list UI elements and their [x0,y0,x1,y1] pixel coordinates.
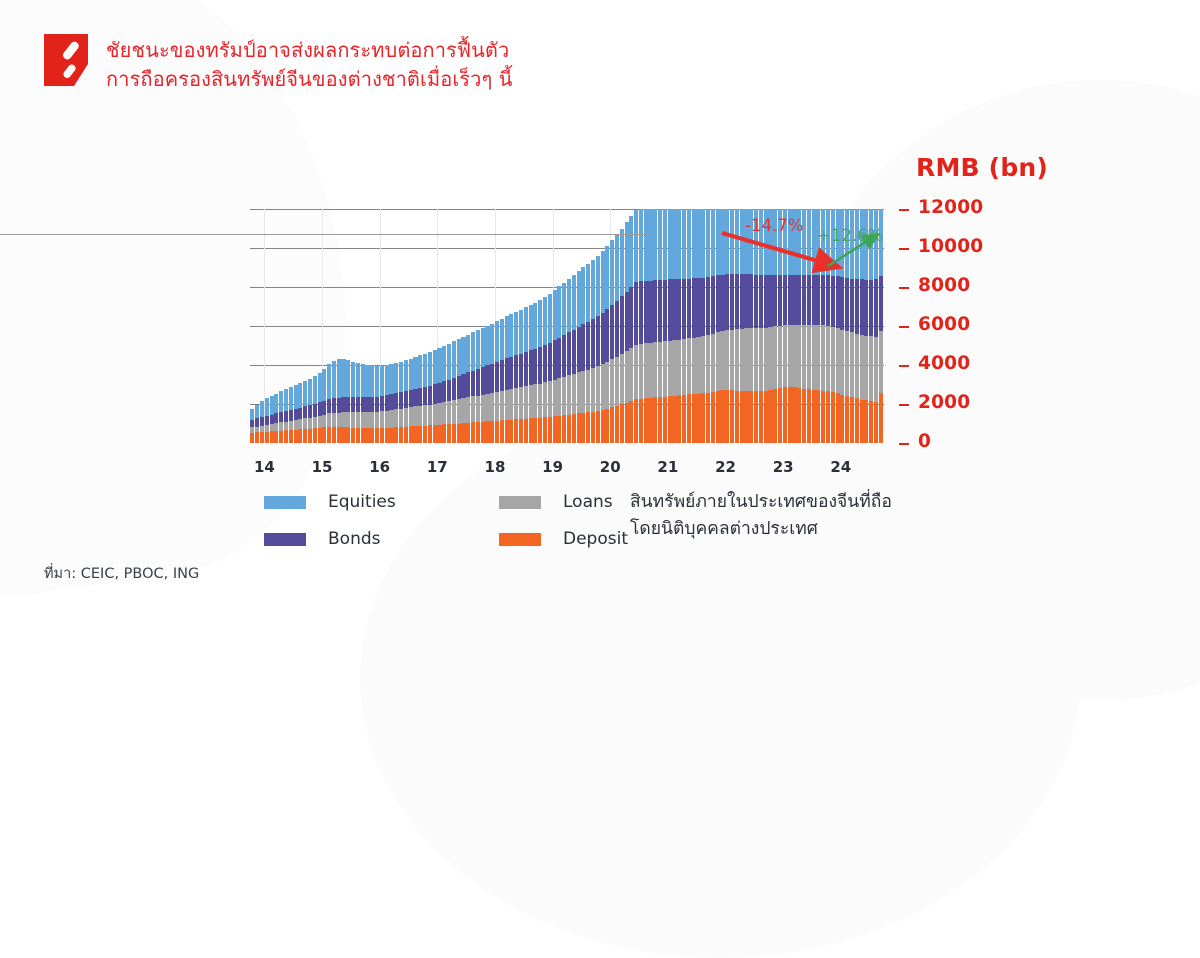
bar-segment-deposit [874,402,878,443]
bar-segment-deposit [610,407,614,443]
bar-segment-bonds [620,296,624,354]
bar-column [783,209,787,443]
y-axis-label: 10000 [918,236,983,257]
bar-column [562,209,566,443]
bar-column [490,209,494,443]
bar-segment-bonds [514,355,518,388]
bar-segment-deposit [466,423,470,443]
bar-segment-bonds [361,397,365,412]
bar-segment-loans [356,412,360,427]
bar-segment-loans [298,419,302,429]
bar-segment-deposit [864,400,868,443]
bar-segment-bonds [505,358,509,389]
bar-segment-loans [375,412,379,428]
bar-segment-deposit [399,427,403,443]
x-axis-label: 21 [657,458,678,476]
bar-segment-loans [274,423,278,431]
bar-segment-deposit [653,397,657,443]
bar-segment-loans [663,341,667,396]
bar-column [754,209,758,443]
bar-segment-bonds [308,405,312,417]
bar-segment-loans [682,339,686,395]
bar-column [677,209,681,443]
bar-column [764,209,768,443]
bar-segment-loans [524,386,528,418]
y-axis-label: 6000 [918,314,970,335]
bar-segment-deposit [413,426,417,443]
bar-segment-equities [466,335,470,373]
bar-segment-loans [452,400,456,424]
bar-column [548,209,552,443]
bar-segment-bonds [744,274,748,328]
bar-segment-equities [270,396,274,415]
legend-deposit[interactable]: Deposit [499,529,628,549]
bar-series-container [250,209,884,443]
bar-segment-bonds [850,279,854,333]
bar-column [279,209,283,443]
bar-segment-loans [346,412,350,427]
bar-segment-equities [725,209,729,274]
bar-segment-equities [533,303,537,349]
bar-segment-deposit [797,388,801,443]
bar-column [485,209,489,443]
bar-segment-loans [773,326,777,389]
bar-segment-deposit [250,433,254,443]
bar-column [284,209,288,443]
bar-segment-bonds [687,279,691,339]
bar-segment-bonds [298,408,302,420]
bar-segment-equities [457,339,461,376]
bar-segment-deposit [860,400,864,443]
bar-segment-bonds [413,389,417,406]
bar-segment-bonds [485,365,489,393]
bar-segment-loans [711,334,715,392]
bar-column [341,209,345,443]
bar-segment-deposit [361,428,365,443]
bar-segment-deposit [596,411,600,443]
bar-segment-loans [653,342,657,397]
bar-segment-loans [351,412,355,427]
bar-segment-deposit [668,396,672,443]
bar-segment-deposit [716,391,720,443]
bar-segment-equities [577,271,581,327]
bar-segment-deposit [524,419,528,443]
bar-segment-loans [461,398,465,423]
bar-segment-equities [740,209,744,274]
bar-segment-deposit [533,418,537,443]
bar-segment-bonds [471,371,475,397]
bar-segment-bonds [322,401,326,415]
bar-column [605,209,609,443]
bar-segment-loans [284,422,288,431]
bar-segment-loans [418,406,422,426]
bar-segment-deposit [514,419,518,443]
bar-segment-bonds [303,406,307,418]
bar-segment-deposit [807,389,811,443]
bar-column [437,209,441,443]
bar-segment-bonds [740,274,744,329]
bar-segment-equities [634,210,638,282]
bar-segment-loans [874,337,878,402]
bar-column [543,209,547,443]
bar-segment-equities [663,209,667,280]
bar-segment-deposit [826,391,830,443]
bar-segment-equities [581,267,585,324]
bar-column [581,209,585,443]
bar-segment-equities [615,235,619,301]
bar-segment-bonds [644,281,648,343]
bar-segment-loans [457,399,461,423]
bar-segment-deposit [788,387,792,443]
bar-segment-loans [567,375,571,414]
bar-segment-equities [529,305,533,350]
bar-segment-deposit [778,388,782,443]
bar-segment-equities [553,290,557,340]
bar-segment-equities [648,209,652,281]
y-axis-label: 4000 [918,353,970,374]
bar-segment-equities [720,209,724,275]
bar-segment-loans [778,326,782,389]
x-axis-label: 19 [542,458,563,476]
bar-segment-deposit [591,412,595,443]
bar-segment-bonds [682,279,686,339]
bar-segment-bonds [548,343,552,382]
bar-segment-loans [332,413,336,427]
bar-segment-equities [672,209,676,279]
bar-segment-equities [692,209,696,278]
bar-column [653,209,657,443]
bar-segment-equities [495,321,499,362]
bar-segment-deposit [428,425,432,443]
bar-segment-equities [385,365,389,395]
bar-segment-bonds [351,397,355,412]
bar-segment-bonds [294,409,298,420]
bar-segment-deposit [701,393,705,443]
bar-segment-equities [481,328,485,367]
bar-segment-loans [322,415,326,428]
bar-segment-deposit [720,390,724,443]
bar-segment-bonds [399,392,403,408]
bar-segment-bonds [677,279,681,340]
plot-area [250,209,884,443]
bar-column [476,209,480,443]
bar-column [735,209,739,443]
bar-segment-loans [591,368,595,412]
bar-column [409,209,413,443]
y-axis-tick [899,365,909,367]
bar-segment-loans [845,331,849,396]
bar-segment-bonds [380,396,384,411]
bar-segment-equities [476,330,480,369]
bar-segment-bonds [260,417,264,426]
bar-segment-bonds [816,275,820,325]
bar-segment-loans [720,331,724,390]
bar-segment-equities [706,209,710,277]
bar-segment-deposit [332,427,336,443]
bar-segment-bonds [615,301,619,357]
bar-segment-deposit [696,394,700,443]
bar-segment-loans [577,372,581,413]
bar-segment-equities [524,307,528,352]
bar-segment-loans [860,335,864,400]
bar-segment-equities [505,316,509,358]
bar-segment-equities [337,359,341,397]
bar-segment-loans [308,418,312,429]
bar-segment-bonds [879,276,883,331]
bar-segment-loans [265,425,269,432]
bar-column [452,209,456,443]
bar-segment-loans [337,413,341,427]
bar-segment-deposit [749,391,753,443]
bar-segment-deposit [869,401,873,443]
bar-segment-equities [701,209,705,278]
bar-segment-loans [294,420,298,430]
bar-segment-loans [385,411,389,428]
bar-segment-equities [812,209,816,275]
bar-segment-bonds [773,275,777,326]
bar-column [346,209,350,443]
bar-segment-equities [500,319,504,360]
bar-segment-deposit [375,428,379,443]
bar-segment-deposit [303,429,307,443]
bar-segment-bonds [581,324,585,371]
bar-segment-loans [433,404,437,425]
bar-segment-loans [270,424,274,431]
bar-segment-equities [370,365,374,397]
bar-segment-deposit [625,403,629,443]
bar-segment-loans [399,409,403,427]
bar-segment-bonds [701,278,705,337]
bar-segment-bonds [639,281,643,343]
bar-segment-equities [274,394,278,414]
bar-segment-deposit [298,429,302,443]
x-axis-line [0,234,648,235]
bar-segment-bonds [783,275,787,325]
bar-column [701,209,705,443]
bar-column [509,209,513,443]
bar-segment-deposit [485,421,489,443]
bar-segment-loans [327,413,331,426]
bar-segment-equities [538,300,542,347]
bar-segment-bonds [720,275,724,331]
legend-bonds[interactable]: Bonds [264,529,396,549]
bar-segment-loans [318,416,322,428]
bar-segment-deposit [605,409,609,443]
bar-segment-bonds [279,412,283,422]
bar-segment-bonds [389,394,393,410]
bar-segment-bonds [394,393,398,409]
bar-segment-equities [605,246,609,309]
bar-segment-equities [409,359,413,391]
bar-segment-bonds [318,402,322,415]
bar-segment-deposit [471,422,475,443]
bar-segment-deposit [476,422,480,443]
bar-segment-deposit [457,424,461,444]
bar-segment-bonds [845,278,849,331]
bar-column [773,209,777,443]
bar-segment-loans [625,351,629,403]
legend-loans[interactable]: Loans [499,492,628,512]
bar-segment-loans [826,326,830,391]
bar-segment-deposit [433,425,437,443]
bar-column [778,209,782,443]
bar-segment-deposit [313,428,317,443]
bar-segment-loans [744,328,748,391]
bar-segment-deposit [639,399,643,443]
source-citation: ที่มา: CEIC, PBOC, ING [44,562,199,585]
bar-segment-loans [879,331,883,393]
bar-segment-loans [442,402,446,424]
bar-column [389,209,393,443]
bar-segment-equities [322,369,326,401]
bar-segment-equities [572,275,576,330]
bar-segment-loans [730,330,734,391]
bar-segment-equities [596,256,600,316]
bar-column [365,209,369,443]
bar-column [706,209,710,443]
bar-segment-equities [423,354,427,387]
bar-segment-bonds [447,380,451,401]
bar-segment-equities [308,379,312,405]
bar-segment-equities [509,314,513,357]
bar-segment-equities [437,348,441,383]
bar-segment-bonds [668,279,672,341]
bar-segment-deposit [759,391,763,443]
bar-segment-bonds [663,280,667,342]
bar-segment-bonds [327,399,331,413]
bar-segment-deposit [672,396,676,443]
bar-segment-bonds [250,420,254,428]
bar-column [289,209,293,443]
bar-segment-deposit [519,419,523,443]
bar-segment-loans [802,325,806,389]
bar-segment-deposit [481,422,485,443]
bar-segment-deposit [322,427,326,443]
bar-column [639,209,643,443]
bar-segment-deposit [461,423,465,443]
bar-column [601,209,605,443]
bar-segment-loans [490,393,494,421]
legend-label: Deposit [563,529,628,549]
bar-column [768,209,772,443]
bar-segment-equities [514,312,518,355]
bar-segment-bonds [270,415,274,424]
bar-segment-equities [711,209,715,276]
bar-segment-deposit [274,431,278,443]
bar-segment-deposit [452,424,456,443]
bar-segment-deposit [529,418,533,443]
bar-segment-bonds [601,313,605,364]
legend-swatch-icon [499,533,541,546]
legend-equities[interactable]: Equities [264,492,396,512]
bar-column [370,209,374,443]
bar-segment-bonds [596,316,600,366]
bar-segment-equities [289,387,293,410]
bar-segment-loans [562,377,566,415]
bar-segment-equities [601,251,605,313]
bar-column [457,209,461,443]
bar-column [668,209,672,443]
y-axis-label: 0 [918,431,931,452]
bar-segment-deposit [490,421,494,443]
bar-segment-deposit [255,432,259,443]
bar-column [351,209,355,443]
bar-segment-deposit [682,395,686,443]
bar-segment-bonds [874,279,878,336]
bar-segment-bonds [289,410,293,421]
bar-segment-equities [428,352,432,386]
bar-segment-equities [591,260,595,319]
bar-segment-loans [485,394,489,422]
bar-segment-deposit [548,417,552,443]
y-axis-tick [899,209,909,211]
bar-segment-bonds [653,280,657,342]
bar-segment-bonds [821,275,825,325]
bar-segment-bonds [577,327,581,372]
bar-segment-loans [783,325,787,387]
bar-segment-loans [500,391,504,420]
x-axis-label: 15 [312,458,333,476]
bar-segment-bonds [840,277,844,329]
bar-column [404,209,408,443]
bar-segment-loans [788,325,792,387]
bar-column [692,209,696,443]
bar-segment-deposit [773,389,777,443]
bar-segment-bonds [610,305,614,359]
x-axis-label: 14 [254,458,275,476]
bar-column [591,209,595,443]
bar-column [303,209,307,443]
bar-segment-equities [735,209,739,274]
bar-segment-bonds [452,378,456,400]
bar-segment-bonds [812,275,816,325]
bar-column [356,209,360,443]
bar-segment-deposit [620,404,624,443]
bar-segment-loans [514,388,518,419]
bar-segment-equities [327,364,331,399]
bar-segment-bonds [385,395,389,410]
bar-segment-bonds [658,280,662,342]
bar-segment-equities [365,365,369,397]
bar-segment-equities [394,363,398,393]
bar-segment-loans [365,412,369,428]
bar-column [807,209,811,443]
bar-column [327,209,331,443]
bar-column [332,209,336,443]
bar-column [812,209,816,443]
bar-segment-loans [768,327,772,390]
bar-segment-deposit [677,395,681,443]
bar-segment-loans [404,408,408,427]
bar-segment-equities [562,283,566,335]
bar-segment-equities [682,209,686,279]
bar-segment-deposit [260,432,264,443]
bar-segment-deposit [744,391,748,443]
bar-segment-loans [495,392,499,421]
bar-segment-equities [668,209,672,279]
bar-segment-equities [351,362,355,397]
bar-segment-loans [759,328,763,392]
bar-segment-equities [490,324,494,364]
bar-segment-deposit [284,430,288,443]
bar-segment-loans [409,407,413,426]
bar-segment-loans [629,348,633,401]
bar-column [716,209,720,443]
bar-segment-loans [855,334,859,399]
bar-segment-bonds [730,274,734,329]
bar-column [481,209,485,443]
bar-column [533,209,537,443]
